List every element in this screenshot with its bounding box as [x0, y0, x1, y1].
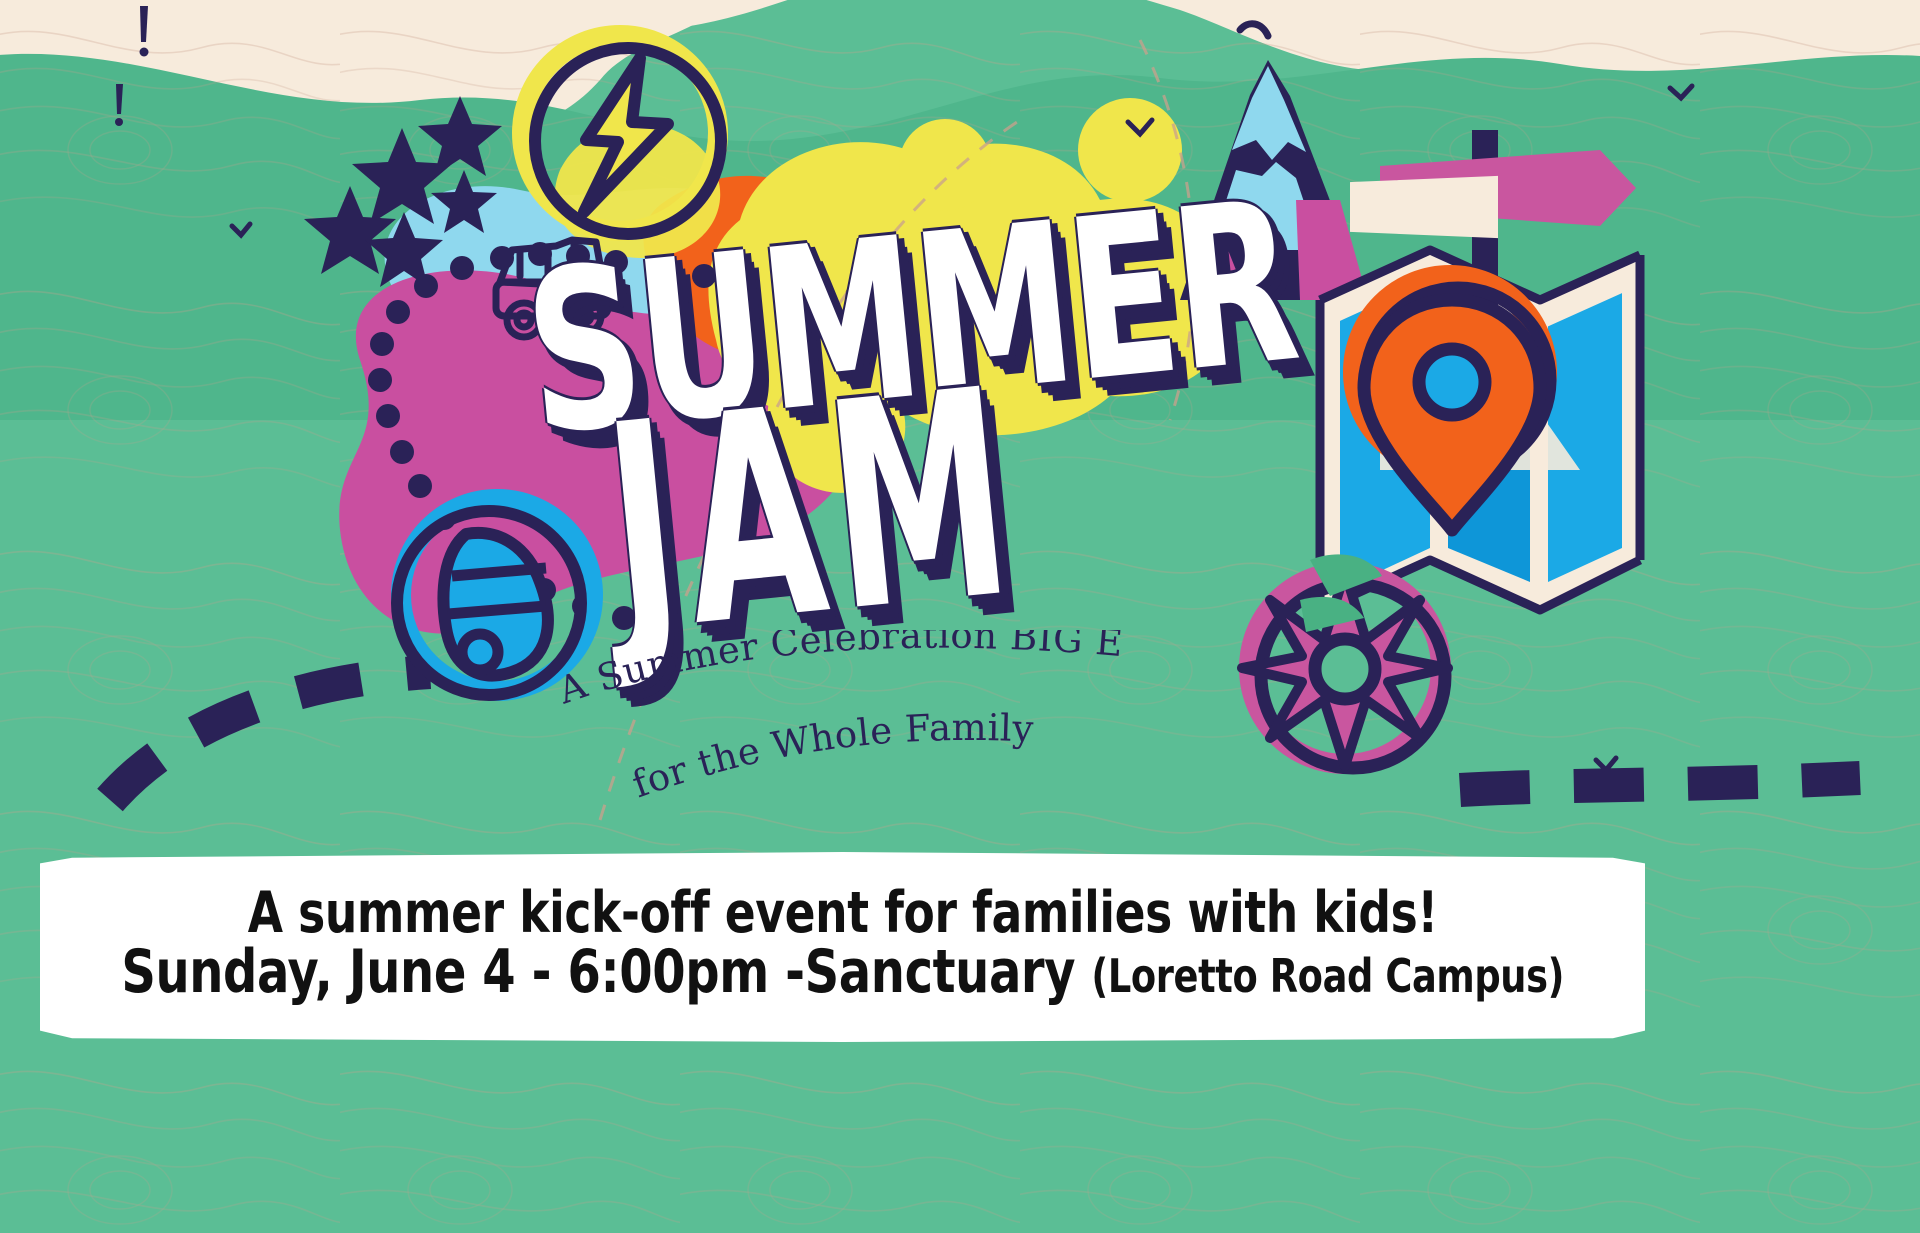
background-art [0, 0, 1920, 1233]
tagline: A Summer Celebration BIG Enough for the … [560, 630, 1180, 850]
event-banner: A summer kick-off event for families wit… [40, 852, 1645, 1042]
banner-venue: Loretto Road Campus [1108, 949, 1548, 1003]
banner-details: Sunday, June 4 - 6:00pm -Sanctuary (Lore… [121, 942, 1564, 1003]
yellow-dot-a [899, 119, 991, 211]
banner-paren-close: ) [1547, 949, 1563, 1003]
banner-headline: A summer kick-off event for families wit… [247, 884, 1437, 942]
compass-badge [1242, 572, 1448, 768]
tagline-line-1: A Summer Celebration BIG Enough [560, 630, 1125, 713]
banner-details-main: Sunday, June 4 - 6:00pm -Sanctuary [121, 937, 1091, 1007]
yellow-dot-b [1078, 98, 1182, 202]
banner-paren-open: ( [1091, 949, 1107, 1003]
summer-jam-poster: SUMMER JAM A Summer Celebration BIG Enou… [0, 0, 1920, 1233]
